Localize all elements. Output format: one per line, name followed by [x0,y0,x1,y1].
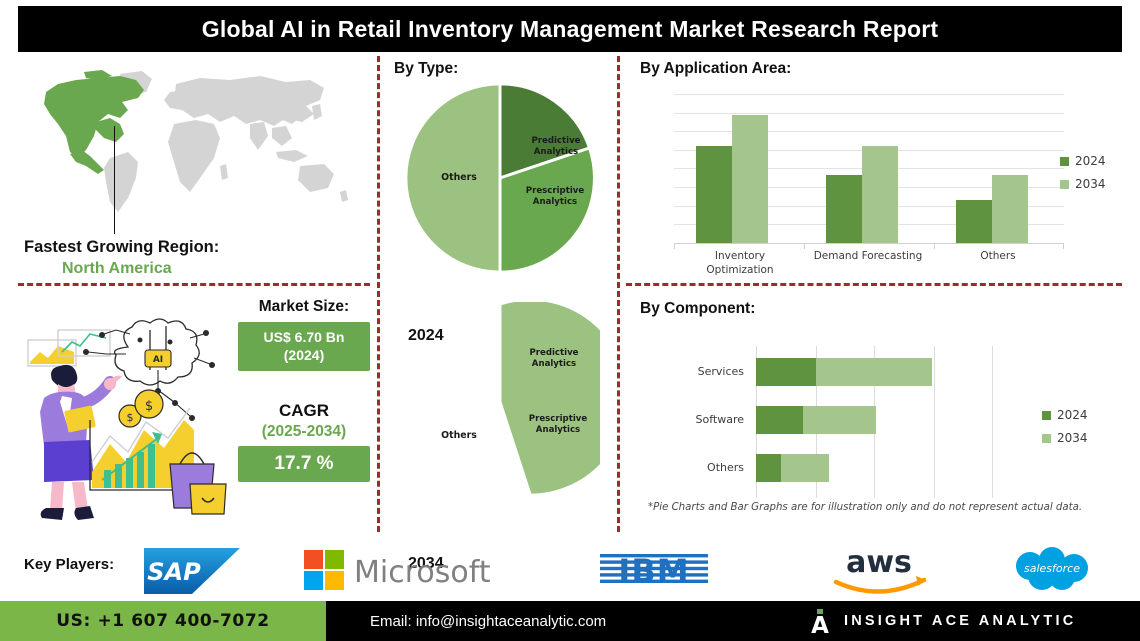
legend-swatch-component-2024-icon [1042,411,1051,420]
svg-text:SAP: SAP [147,558,201,586]
legend-label-component-2034: 2034 [1057,431,1088,445]
page-title: Global AI in Retail Inventory Management… [202,16,938,43]
stacked-seg-others-2024 [756,454,781,482]
by-type-section: By Type: Predictive Analytics Prescripti… [386,56,611,532]
key-players-label: Key Players: [24,556,114,573]
bar-group-others [956,175,1028,243]
cagr-heading: CAGR [238,401,370,421]
stacked-bar-software: Software [756,406,876,434]
sap-logo: SAP [144,548,240,594]
legend-swatch-2024-icon [1060,157,1069,166]
legend-item-2034: 2034 [1060,177,1106,191]
aws-logo: aws [824,544,934,596]
charts-disclaimer-footnote: *Pie Charts and Bar Graphs are for illus… [648,502,1082,513]
fastest-growing-region-label: Fastest Growing Region: [24,238,219,257]
by-component-title: By Component: [640,300,755,318]
legend-item-component-2024: 2024 [1042,408,1088,422]
stacked-seg-others-2034 [781,454,829,482]
market-size-value-box: US$ 6.70 Bn (2024) [238,322,370,371]
legend-item-2024: 2024 [1060,154,1106,168]
stacked-seg-services-2024 [756,358,816,386]
world-map-icon [24,66,354,226]
application-area-bar-chart: Inventory Optimization Demand Forecastin… [674,94,1064,244]
svg-text:$: $ [127,411,134,424]
bar-demand-forecasting-2024 [826,175,862,243]
coins-icon: $ $ [119,390,163,427]
contact-phone[interactable]: US: +1 607 400-7072 [0,601,326,641]
brand-name: INSIGHT ACE ANALYTIC [844,613,1076,629]
legend-label-2034: 2034 [1075,177,1106,191]
key-players-band: Key Players: SAP Microsoft IBM aws [0,536,1140,604]
component-label-others-comp: Others [707,454,744,482]
bar-others-2034 [992,175,1028,243]
right-charts-column: By Application Area: Inventory Optimizat… [626,56,1136,532]
category-label-inventory-optimization: Inventory Optimization [682,250,798,277]
ibm-logo: IBM [600,552,708,590]
svg-text:IBM: IBM [618,552,689,590]
stacked-bar-others: Others [756,454,829,482]
legend-item-component-2034: 2034 [1042,431,1088,445]
stacked-seg-software-2034 [803,406,876,434]
fastest-growing-region-value: North America [62,260,172,278]
component-legend: 2024 2034 [1042,408,1088,454]
market-stats-panel: Market Size: US$ 6.70 Bn (2024) CAGR (20… [238,298,370,482]
legend-swatch-2034-icon [1060,180,1069,189]
legend-label-component-2024: 2024 [1057,408,1088,422]
svg-text:AI: AI [153,355,163,365]
pie-chart-2034: Predictive Analytics Prescriptive Analyt… [400,302,600,507]
svg-text:A: A [811,613,829,635]
pie-2024-slice-prescriptive: Prescriptive Analytics [512,186,598,208]
category-label-others-app: Others [942,250,1054,264]
pie-2034-slice-others: Others [424,430,494,442]
by-type-title: By Type: [394,60,458,78]
pie-2034-slice-predictive: Predictive Analytics [518,348,590,370]
contact-bar: US: +1 607 400-7072 Email: info@insighta… [0,601,1140,641]
component-label-services: Services [698,358,744,386]
bar-inventory-optimization-2034 [732,115,768,243]
fastest-growing-region-panel: Fastest Growing Region: North America [10,66,368,266]
stacked-seg-software-2024 [756,406,803,434]
svg-text:Microsoft: Microsoft [354,555,491,590]
by-application-area-title: By Application Area: [640,60,791,78]
category-label-demand-forecasting: Demand Forecasting [806,250,930,264]
market-size-year: (2024) [242,347,366,365]
bar-group-demand-forecasting [826,146,898,243]
svg-text:$: $ [145,399,153,414]
pie-2024-slice-predictive: Predictive Analytics [520,136,592,158]
application-area-legend: 2024 2034 [1060,154,1106,200]
cagr-value-box: 17.7 % [238,446,370,482]
pie-2034-slice-prescriptive: Prescriptive Analytics [518,414,598,436]
svg-text:salesforce: salesforce [1024,562,1080,575]
bar-group-inventory-optimization [696,115,768,243]
pie-chart-2024: Predictive Analytics Prescriptive Analyt… [404,82,596,279]
mini-chart-icon [28,330,110,366]
ai-retail-analytics-illustration: AI [18,312,228,524]
salesforce-logo: salesforce [1000,546,1104,594]
bar-demand-forecasting-2034 [862,146,898,243]
market-size-heading: Market Size: [238,298,370,316]
contact-email[interactable]: Email: info@insightaceanalytic.com [326,601,810,641]
brand-footer: A INSIGHT ACE ANALYTIC [810,601,1140,641]
legend-swatch-component-2034-icon [1042,434,1051,443]
legend-label-2024: 2024 [1075,154,1106,168]
svg-text:aws: aws [846,545,912,580]
insight-ace-logo-icon: A [810,609,830,633]
divider-vertical-right [617,56,620,532]
bar-others-2024 [956,200,992,243]
bar-inventory-optimization-2024 [696,146,732,243]
divider-vertical-left [377,56,380,532]
stacked-bar-services: Services [756,358,932,386]
component-label-software: Software [696,406,745,434]
divider-horizontal-left [18,283,370,286]
businesswoman-illustration [40,365,122,520]
stacked-seg-services-2034 [816,358,932,386]
pie-2024-slice-others: Others [424,172,494,184]
header-banner: Global AI in Retail Inventory Management… [18,6,1122,52]
component-stacked-bar-chart: Services Software Others [756,346,1056,498]
microsoft-logo: Microsoft [304,548,516,594]
market-size-value: US$ 6.70 Bn [242,329,366,347]
cagr-period: (2025-2034) [238,423,370,441]
map-pointer-line [114,126,115,234]
